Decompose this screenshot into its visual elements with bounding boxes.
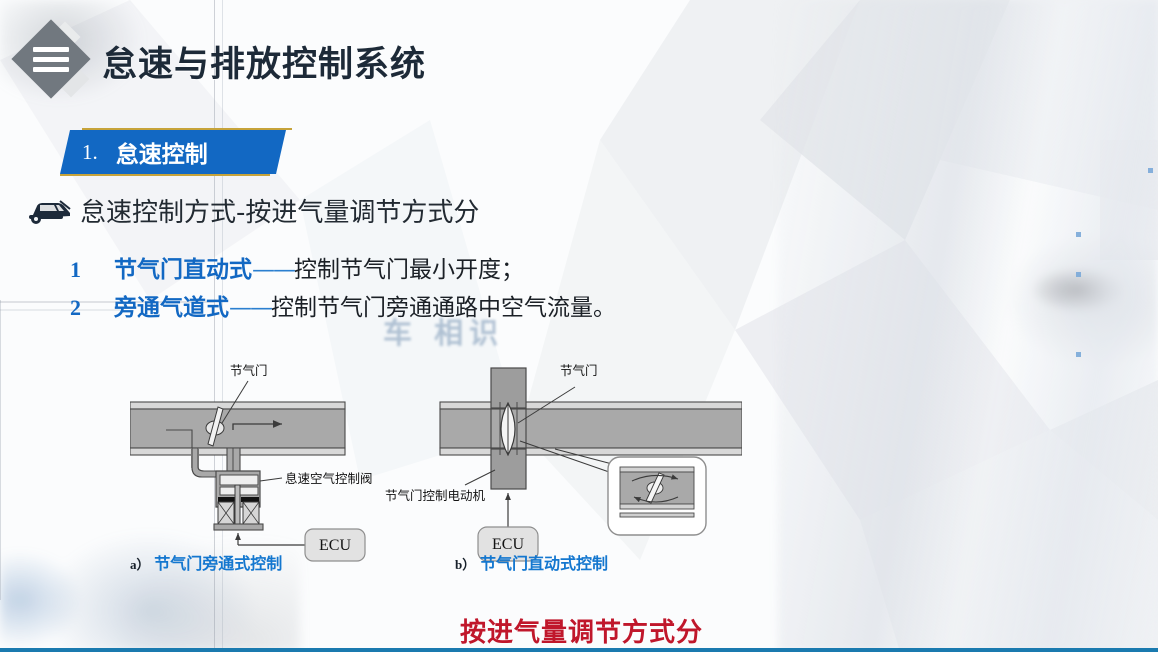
list-item-number: 1 (70, 257, 114, 283)
figure-caption-a-text: 节气门旁通式控制 (154, 554, 282, 573)
footer-note: 按进气量调节方式分 (460, 612, 703, 649)
figure-caption-b-text: 节气门直动式控制 (480, 554, 608, 573)
list-item-desc: 控制节气门最小开度； (294, 250, 524, 284)
label-throttle-right: 节气门 (560, 363, 598, 378)
bullet-list: 1 节气门直动式 —— 控制节气门最小开度； 2 旁通气道式 —— 控制节气门旁… (70, 250, 616, 326)
label-throttle-motor: 节气门控制电动机 (385, 488, 486, 503)
section-tab[interactable]: 1. 怠速控制 (60, 128, 292, 176)
lead-text: 怠速控制方式-按进气量调节方式分 (80, 192, 479, 229)
list-item-term: 节气门直动式 (114, 250, 252, 284)
tab-rule-top (82, 128, 292, 130)
list-item-dash: —— (252, 257, 294, 283)
figure-svg: 节气门 (130, 345, 742, 575)
bottom-rule (0, 648, 1158, 652)
list-item: 1 节气门直动式 —— 控制节气门最小开度； (70, 250, 616, 284)
list-item-number: 2 (70, 295, 114, 321)
label-throttle-left: 节气门 (230, 363, 268, 378)
figure-caption-a-prefix: a） (130, 557, 150, 572)
figure-idle-control-diagrams: 节气门 (130, 345, 742, 575)
figure-caption-b: b） 节气门直动式控制 (455, 550, 608, 574)
label-iac-valve: 息速空气控制阀 (285, 471, 373, 486)
list-item: 2 旁通气道式 —— 控制节气门旁通通路中空气流量。 (70, 288, 616, 322)
slide-root: 怠速与排放控制系统 1. 怠速控制 怠速控制方式-按进气量调节方式分 1 节气门… (0, 0, 1158, 652)
list-item-desc: 控制节气门旁通通路中空气流量。 (271, 288, 616, 322)
diagram-direct-control: 节气门 节气门控制电动机 ECU (385, 363, 742, 561)
figure-caption-a: a） 节气门旁通式控制 (130, 550, 282, 574)
tab-label: 怠速控制 (116, 135, 208, 169)
figure-caption-b-prefix: b） (455, 557, 475, 572)
tab-shape: 1. 怠速控制 (60, 130, 286, 174)
tab-number: 1. (82, 140, 98, 165)
list-item-dash: —— (229, 295, 271, 321)
label-ecu-left: ECU (319, 537, 351, 554)
car-icon (26, 195, 72, 227)
hamburger-diamond-icon (14, 22, 92, 100)
page-title: 怠速与排放控制系统 (102, 36, 426, 87)
list-item-term: 旁通气道式 (114, 288, 229, 322)
slide-header: 怠速与排放控制系统 (14, 22, 426, 100)
tab-rule-bottom (60, 174, 270, 176)
diagram-bypass-control: 节气门 (130, 363, 373, 561)
lead-heading: 怠速控制方式-按进气量调节方式分 (26, 192, 479, 229)
